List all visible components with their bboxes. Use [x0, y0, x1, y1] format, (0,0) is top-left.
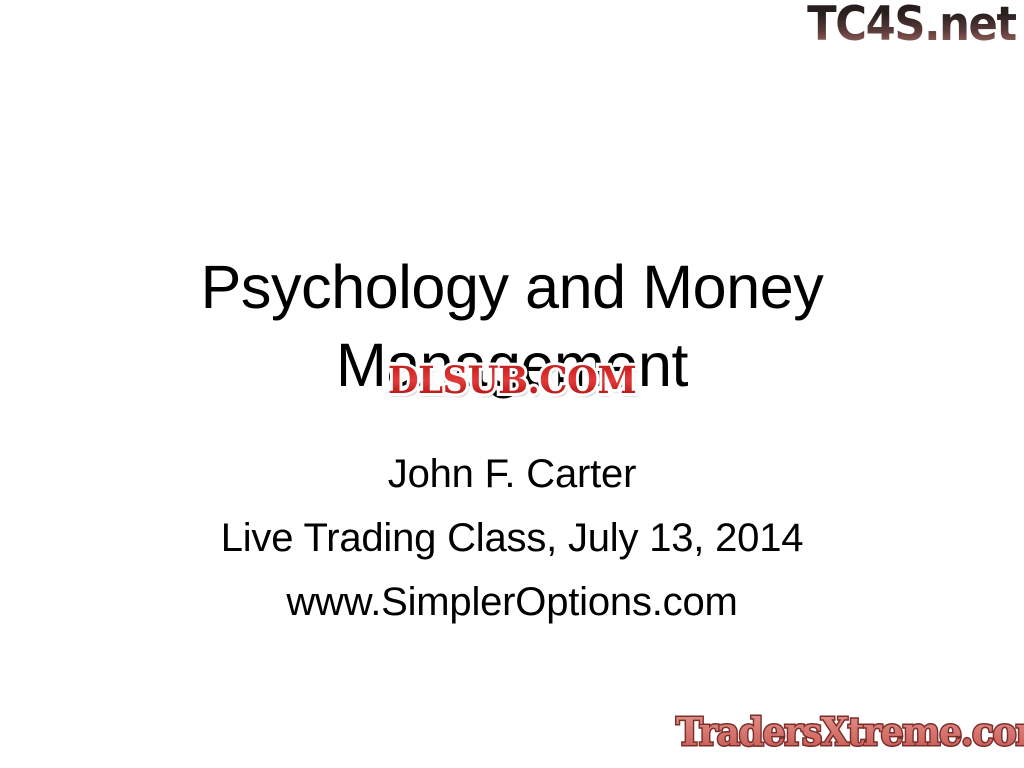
watermark-tc4s-net: TC4S.net [807, 1, 1016, 49]
presentation-slide: Psychology and Money Management John F. … [0, 0, 1024, 768]
page-title-line-1: Psychology and Money [0, 248, 1024, 326]
subtitle-website: www.SimplerOptions.com [0, 570, 1024, 634]
watermark-dlsub-com: DLSUB.COM DLSUB.COM [372, 358, 652, 402]
watermark-tradersxtreme-com: TradersXtreme.com TradersXtreme.com Trad… [676, 706, 1003, 762]
watermark-tradersxtreme-com-fill: TradersXtreme.com [676, 706, 1024, 758]
subtitle-class-date: Live Trading Class, July 13, 2014 [0, 506, 1024, 570]
watermark-dlsub-com-fill: DLSUB.COM [388, 358, 636, 402]
subtitle-presenter-name: John F. Carter [0, 442, 1024, 506]
slide-subtitle: John F. Carter Live Trading Class, July … [0, 442, 1024, 634]
